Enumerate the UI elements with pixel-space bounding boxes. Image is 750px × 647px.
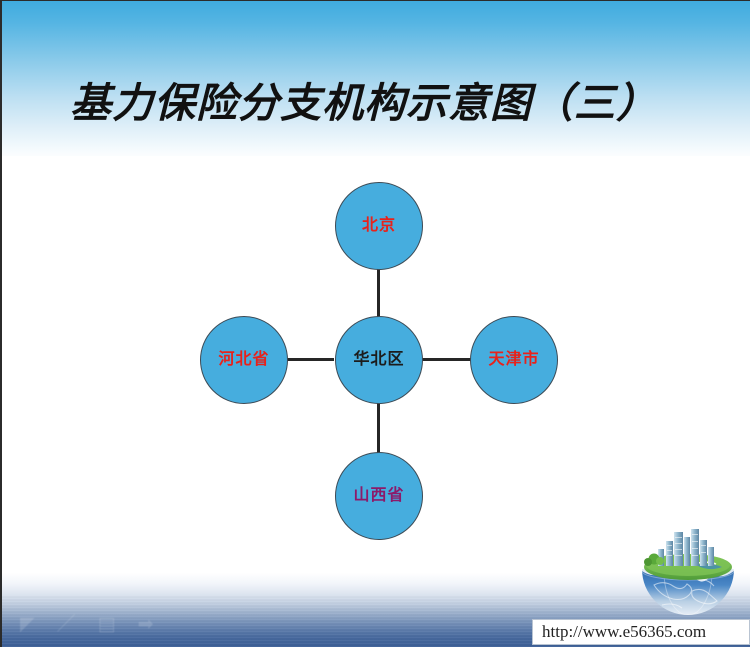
- node-label-tianjin-city: 天津市: [488, 352, 539, 368]
- node-tianjin-city[interactable]: 天津市: [470, 316, 558, 404]
- connector-center-to-right: [422, 358, 472, 361]
- site-url-text: http://www.e56365.com: [533, 622, 706, 642]
- url-watermark-band[interactable]: http://www.e56365.com: [532, 619, 750, 645]
- node-label-hebei-province: 河北省: [218, 352, 269, 368]
- node-label-north-china-region: 华北区: [353, 352, 404, 368]
- presentation-slide: ◤ ／ ▤ ➡ 基力保险分支机构示意图（三） 北京 河北省 华北区 天津市 山西…: [0, 0, 750, 647]
- org-diagram: 北京 河北省 华北区 天津市 山西省: [2, 1, 750, 601]
- node-label-beijing: 北京: [362, 218, 396, 234]
- connector-center-to-bottom: [377, 403, 380, 455]
- node-shanxi-province[interactable]: 山西省: [335, 452, 423, 540]
- connector-center-to-left: [284, 358, 334, 361]
- node-beijing[interactable]: 北京: [335, 182, 423, 270]
- connector-center-to-top: [377, 265, 380, 317]
- node-north-china-region[interactable]: 华北区: [335, 316, 423, 404]
- globe-city-logo: [632, 527, 744, 619]
- node-label-shanxi-province: 山西省: [353, 488, 404, 504]
- node-hebei-province[interactable]: 河北省: [200, 316, 288, 404]
